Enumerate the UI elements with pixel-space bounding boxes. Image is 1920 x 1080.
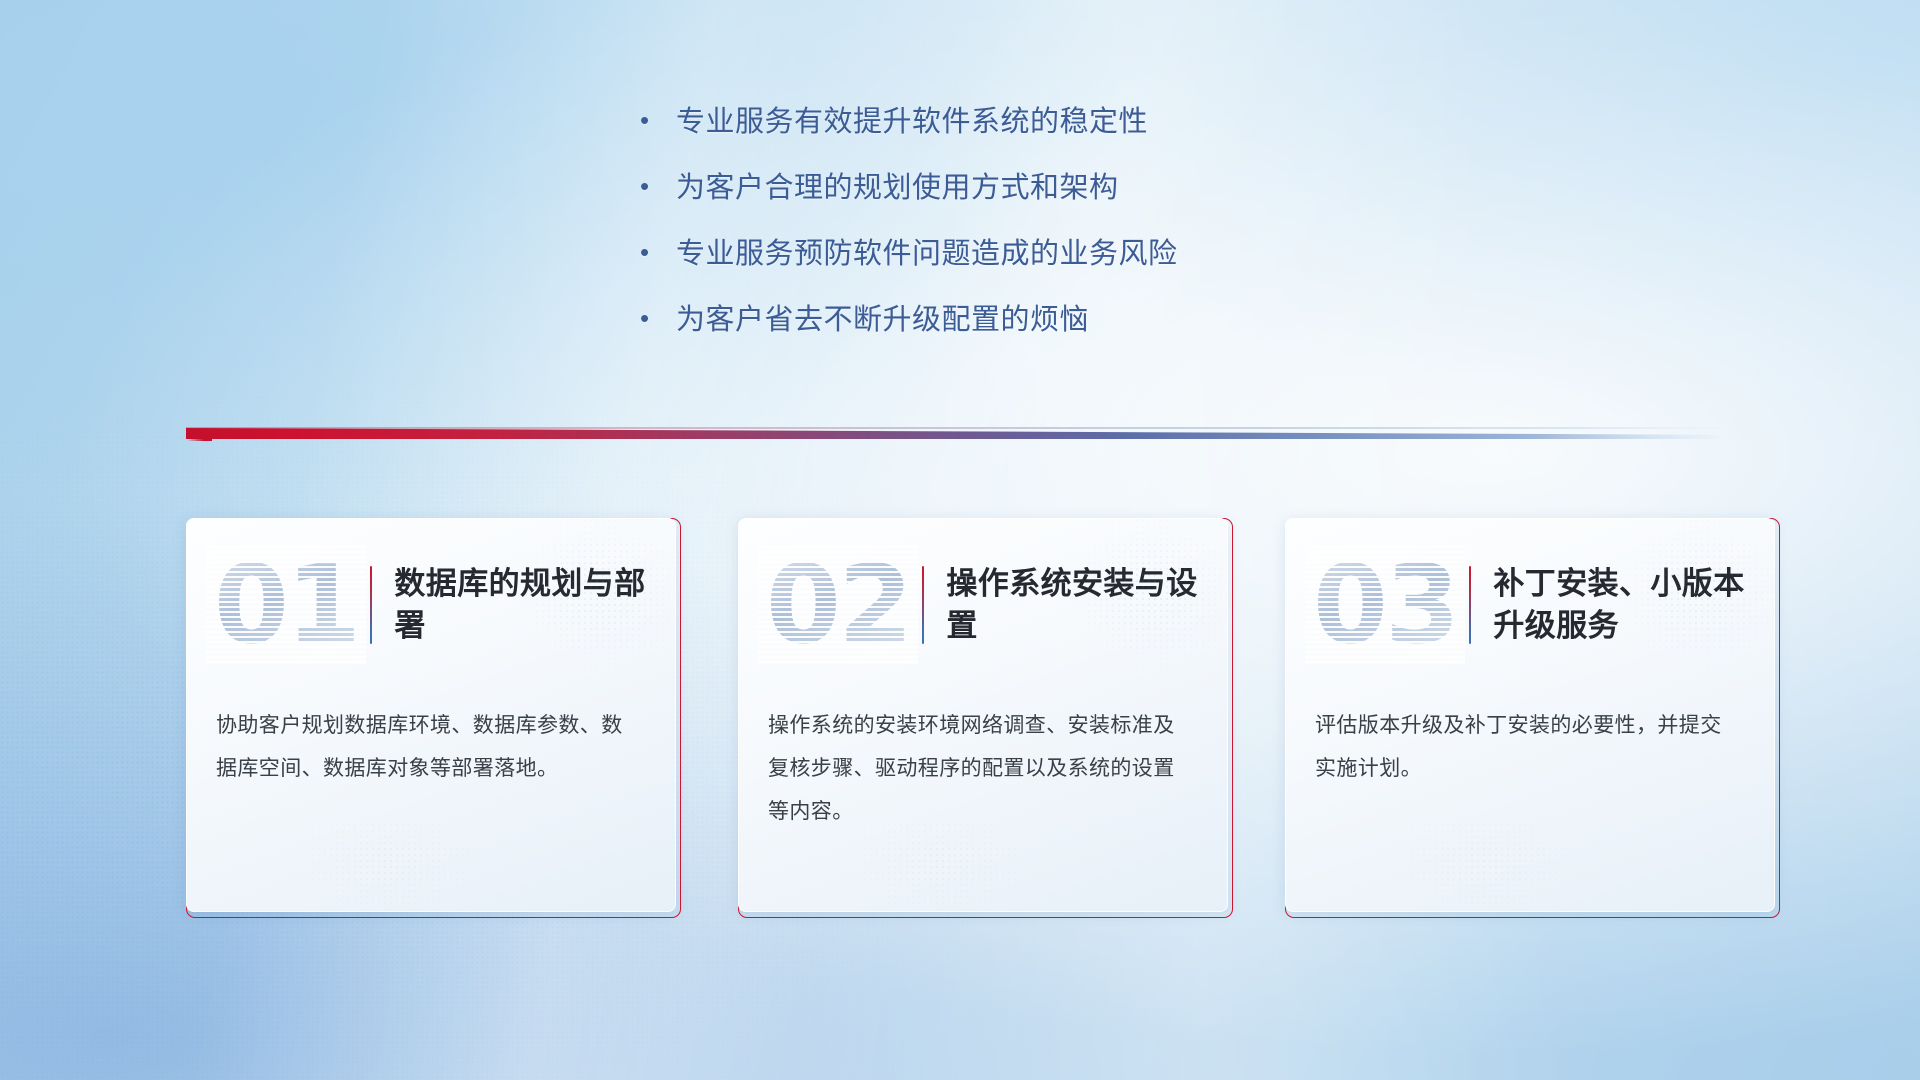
card-title-divider [1469,566,1471,644]
card-header: 01 数据库的规划与部署 [186,540,676,670]
bullet-dot-icon: • [640,236,676,269]
card-title-divider [370,566,372,644]
card-title-divider [922,566,924,644]
list-item: • 为客户合理的规划使用方式和架构 [640,170,1440,207]
service-card[interactable]: 01 数据库的规划与部署 协助客户规划数据库环境、数据库参数、数据库空间、数据库… [186,518,681,918]
benefits-bullet-list: • 专业服务有效提升软件系统的稳定性 • 为客户合理的规划使用方式和架构 • 专… [640,104,1440,368]
service-card[interactable]: 03 补丁安装、小版本升级服务 评估版本升级及补丁安装的必要性，并提交实施计划。 [1285,518,1780,918]
card-number-text: 03 [1305,546,1465,664]
card-surface: 03 补丁安装、小版本升级服务 评估版本升级及补丁安装的必要性，并提交实施计划。 [1285,518,1775,912]
card-number-text: 01 [206,546,366,664]
bullet-text: 为客户合理的规划使用方式和架构 [676,170,1440,207]
card-body-text: 协助客户规划数据库环境、数据库参数、数据库空间、数据库对象等部署落地。 [216,704,642,790]
bullet-text: 为客户省去不断升级配置的烦恼 [676,302,1440,339]
divider-taper [186,428,1726,439]
card-body-text: 操作系统的安装环境网络调查、安装标准及复核步骤、驱动程序的配置以及系统的设置等内… [768,704,1194,833]
card-surface: 02 操作系统安装与设置 操作系统的安装环境网络调查、安装标准及复核步骤、驱动程… [738,518,1228,912]
bullet-text: 专业服务预防软件问题造成的业务风险 [676,236,1440,273]
card-body-text: 评估版本升级及补丁安装的必要性，并提交实施计划。 [1315,704,1741,790]
card-title: 补丁安装、小版本升级服务 [1493,563,1775,646]
bullet-dot-icon: • [640,170,676,203]
bullet-dot-icon: • [640,104,676,137]
list-item: • 专业服务预防软件问题造成的业务风险 [640,236,1440,273]
list-item: • 专业服务有效提升软件系统的稳定性 [640,104,1440,141]
card-number-badge: 03 [1305,546,1465,664]
card-number-badge: 02 [758,546,918,664]
bullet-dot-icon: • [640,302,676,335]
bullet-text: 专业服务有效提升软件系统的稳定性 [676,104,1440,141]
section-divider [186,427,1726,441]
card-title: 操作系统安装与设置 [946,563,1228,646]
card-number-text: 02 [758,546,918,664]
service-card[interactable]: 02 操作系统安装与设置 操作系统的安装环境网络调查、安装标准及复核步骤、驱动程… [738,518,1233,918]
card-surface: 01 数据库的规划与部署 协助客户规划数据库环境、数据库参数、数据库空间、数据库… [186,518,676,912]
card-dot-texture [256,786,516,912]
divider-highlight [186,427,1726,429]
card-header: 03 补丁安装、小版本升级服务 [1285,540,1775,670]
card-title: 数据库的规划与部署 [394,563,676,646]
card-number-badge: 01 [206,546,366,664]
card-header: 02 操作系统安装与设置 [738,540,1228,670]
card-dot-texture [1355,786,1615,912]
list-item: • 为客户省去不断升级配置的烦恼 [640,302,1440,339]
